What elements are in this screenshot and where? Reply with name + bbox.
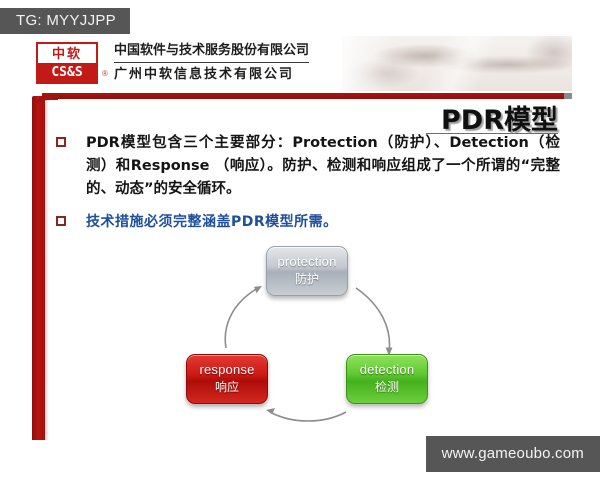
arrow-response-to-protection [225,288,258,348]
header-rule-end-cap [564,93,572,99]
arrow-detection-to-response [270,412,346,421]
site-watermark: www.gameoubo.com [426,436,600,472]
arrowhead-response-to-protection [254,286,262,293]
bullet-list: PDR模型包含三个主要部分：Protection（防护）、Detection（检… [52,132,560,244]
node-detection[interactable]: detection 检测 [346,354,428,404]
node-protection-en: protection [267,254,347,270]
node-detection-cn: 检测 [347,378,427,397]
left-spine-shadow [45,102,49,440]
logo-chinese-mark: 中软 [38,44,96,65]
left-red-spine [32,96,45,440]
bullet-text-2: 技术措施必须完整涵盖PDR模型所需。 [86,211,560,234]
company-name-primary-wrap: 中国软件与技术服务股份有限公司 [114,41,309,63]
node-protection[interactable]: protection 防护 [266,246,348,296]
tg-overlay-label: TG: MYYJJPP [0,8,130,34]
bullet-text-1: PDR模型包含三个主要部分：Protection（防护）、Detection（检… [86,132,560,201]
square-bullet-icon [56,216,66,226]
node-detection-en: detection [347,362,427,378]
node-response-cn: 响应 [187,378,267,397]
arrow-protection-to-detection [356,288,390,352]
square-bullet-icon [56,137,66,147]
list-item: PDR模型包含三个主要部分：Protection（防护）、Detection（检… [52,132,560,201]
list-item: 技术措施必须完整涵盖PDR模型所需。 [52,211,560,234]
company-name-block: 中国软件与技术服务股份有限公司 广州中软信息技术有限公司 [114,41,309,85]
slide-canvas: 中软 CS&S ® 中国软件与技术服务股份有限公司 广州中软信息技术有限公司 P… [28,36,572,440]
node-protection-cn: 防护 [267,270,347,289]
pdr-cycle-diagram: protection 防护 response 响应 detection 检测 [178,244,438,429]
cssc-logo: 中软 CS&S [36,42,98,84]
node-response-en: response [187,362,267,378]
company-name-secondary: 广州中软信息技术有限公司 [114,65,309,85]
logo-english-mark: CS&S [38,63,96,82]
slide-header: 中软 CS&S ® 中国软件与技术服务股份有限公司 广州中软信息技术有限公司 [28,36,572,91]
registered-trademark-icon: ® [102,69,108,78]
great-wall-watermark-image [342,36,572,91]
company-name-primary: 中国软件与技术服务股份有限公司 [114,41,309,63]
node-response[interactable]: response 响应 [186,354,268,404]
